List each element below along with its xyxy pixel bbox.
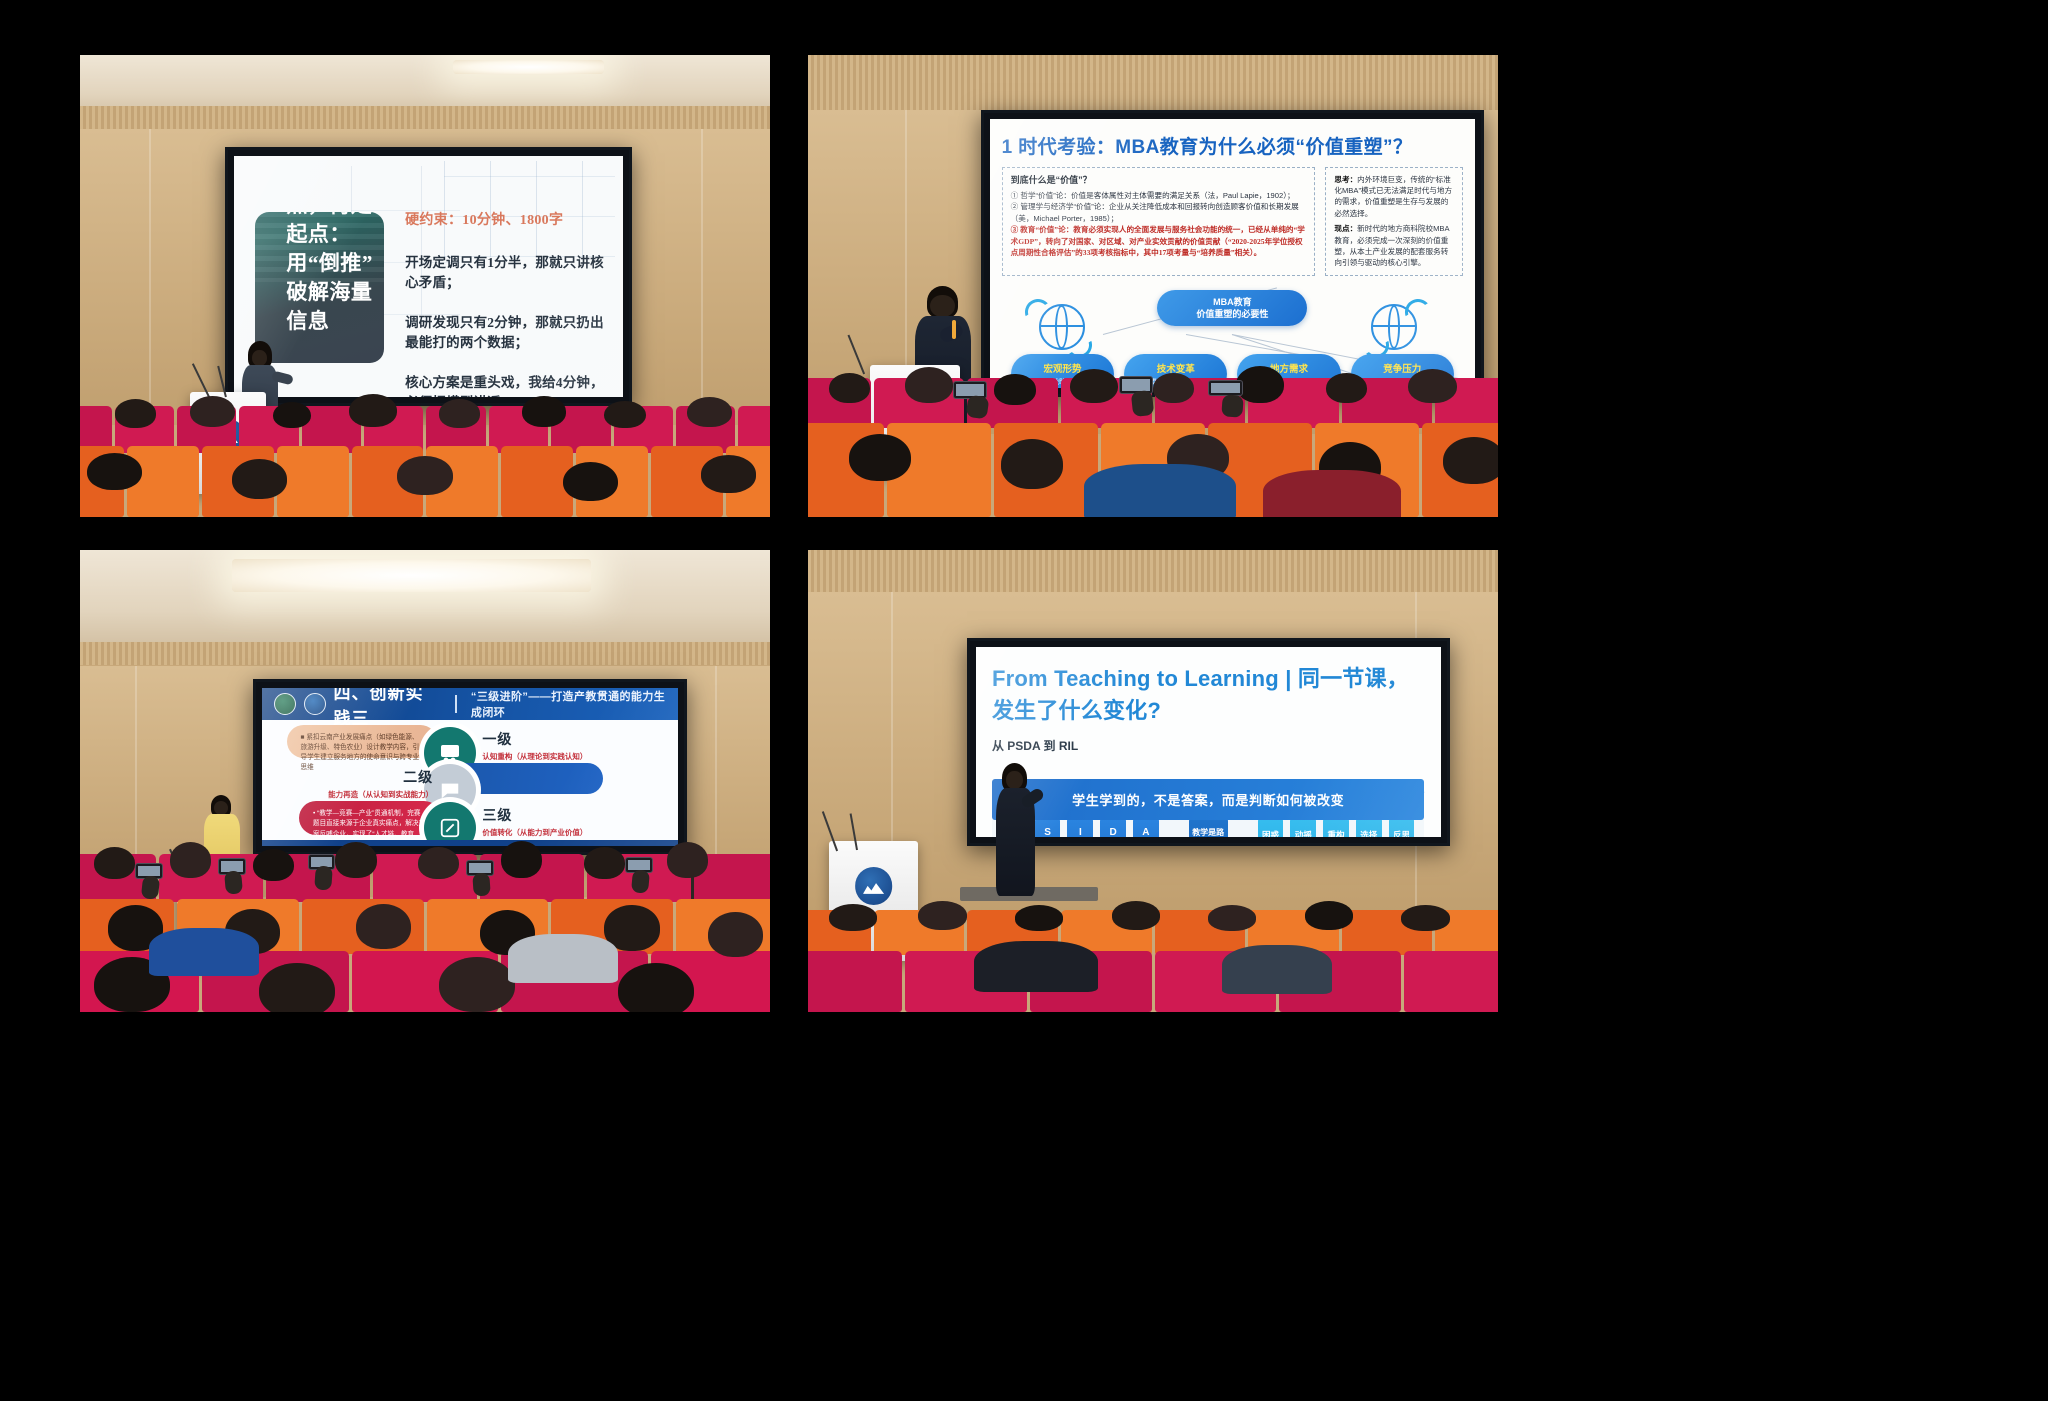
wall-slats-2 [808, 55, 1498, 110]
slide-2-diagram: MBA教育 价值重塑的必要性 宏观形势 国家战略的呼唤 技术变革 数字智能的浪潮 [1002, 288, 1463, 388]
psda-chip: A 行动 方案被执行 [1133, 819, 1159, 837]
speaker-head [1006, 771, 1023, 790]
audience-head [1401, 905, 1449, 930]
slide-surface-4: From Teaching to Learning | 同一节课，发生了什么变化… [976, 647, 1441, 837]
raised-arm [314, 866, 332, 891]
slide-2-columns: 到底什么是“价值”？ ① 哲学“价值”论：价值是客体属性对主体需要的满足关系（法… [1002, 167, 1463, 276]
audience-head [232, 459, 287, 499]
audience-3 [80, 850, 770, 1012]
level-desc: 认知重构（从理论到实践认知） [482, 751, 587, 762]
globe-icon [1039, 304, 1085, 350]
slide-3-header: 四、创新实践三 “三级进阶”——打造产教贯通的能力生成闭环 [262, 688, 679, 720]
projection-screen-3: 四、创新实践三 “三级进阶”——打造产教贯通的能力生成闭环 ■ 紧扣云南产业发展… [253, 679, 688, 855]
audience-head [115, 399, 156, 428]
slide-3-level-1-label: 一级 认知重构（从理论到实践认知） [482, 729, 587, 762]
auditorium-room-1: 先定终点，再走起点： 用“倒推” 破解海量信息 硬约束：10分钟、1800字 开… [80, 55, 770, 517]
slide-2-item: ② 管理学与经济学“价值”论：企业从关注降低成本和回报转向创造顾客价值和长期发展… [1011, 201, 1307, 224]
audience-head [439, 957, 515, 1012]
ril-chip: 动摇 原判断被质疑 [1290, 819, 1316, 837]
ceiling-light-icon [453, 60, 605, 75]
raised-arm [631, 869, 649, 893]
level-name: 一级 [482, 729, 587, 749]
audience-2 [808, 378, 1498, 517]
chip-key: I [1067, 827, 1093, 837]
university-emblem-icon [855, 867, 893, 905]
slide-surface-2: 1 时代考验：MBA教育为什么必须“价值重塑”？ 到底什么是“价值”？ ① 哲学… [990, 119, 1476, 387]
speaker-head [252, 350, 267, 366]
chip-key: D [1100, 827, 1126, 837]
ril-chip: 反思 理解为什么 [1389, 819, 1415, 837]
slide-2-left-box: 到底什么是“价值”？ ① 哲学“价值”论：价值是客体属性对主体需要的满足关系（法… [1002, 167, 1316, 276]
projection-screen-2: 1 时代考验：MBA教育为什么必须“价值重塑”？ 到底什么是“价值”？ ① 哲学… [981, 110, 1485, 396]
audience-head [1001, 439, 1063, 489]
chip-label: 动摇 [1290, 829, 1316, 837]
audience-head [94, 847, 135, 879]
slide-4-title: From Teaching to Learning | 同一节课，发生了什么变化… [992, 661, 1424, 725]
audience-head [687, 397, 732, 427]
slide-1-line: 核心方案是重头戏，我给4分钟，必须把模型讲透…… [405, 371, 607, 397]
audience-head [1070, 369, 1118, 404]
slide-1-line: 开场定调只有1分半，那就只讲核心矛盾； [405, 251, 607, 291]
audience-head [190, 396, 235, 427]
audience-head [170, 842, 211, 878]
audience-head [563, 462, 618, 502]
slide-2-now-label: 现点： [1334, 224, 1357, 233]
audience-head [1112, 901, 1160, 929]
audience-head [1408, 369, 1456, 404]
ril-chip: 重构 认知被改变 [1323, 819, 1349, 837]
audience-1 [80, 406, 770, 517]
panel-top-left-photo: 先定终点，再走起点： 用“倒推” 破解海量信息 硬约束：10分钟、1800字 开… [80, 55, 770, 517]
audience-body [1263, 470, 1401, 517]
audience-head [849, 434, 911, 481]
level-desc: 价值转化（从能力到产业价值） [482, 827, 587, 838]
slide-3-subtitle: “三级进阶”——打造产教贯通的能力生成闭环 [471, 688, 666, 720]
seal-icon [274, 693, 296, 715]
slide-surface-1: 先定终点，再走起点： 用“倒推” 破解海量信息 硬约束：10分钟、1800字 开… [234, 156, 623, 397]
photo-collage: 先定终点，再走起点： 用“倒推” 破解海量信息 硬约束：10分钟、1800字 开… [0, 0, 2048, 1401]
audience-head [501, 841, 542, 878]
speaker-head [930, 295, 954, 318]
raised-arm [1221, 394, 1243, 418]
audience-head [349, 394, 397, 427]
audience-4 [808, 910, 1498, 1012]
audience-head [522, 396, 567, 427]
psda-chip: D 决策 决策被形成 [1100, 819, 1126, 837]
audience-head [708, 912, 763, 957]
smartphone-icon [1208, 380, 1243, 397]
audience-head [335, 842, 376, 878]
audience-body [508, 934, 618, 983]
psda-chip: I 洞察 结论被推导 [1067, 819, 1093, 837]
audience-head [1153, 373, 1194, 403]
audience-head [1208, 905, 1256, 930]
slide-3-pill-level-3: • “教学—竞赛—产业”贯通机制，完赛题目直接来源于企业真实痛点，解决方案反哺企… [299, 801, 441, 835]
wall-slats-3 [80, 642, 770, 665]
level-name: 三级 [482, 805, 587, 825]
audience-head [618, 963, 694, 1012]
chip-label: 困惑 [1258, 829, 1284, 837]
slide-2: 1 时代考验：MBA教育为什么必须“价值重塑”？ 到底什么是“价值”？ ① 哲学… [990, 119, 1476, 387]
slide-2-right-box: 思考：内外环境巨变，传统的“标准化MBA”模式已无法满足时代与地方的需求，价值重… [1325, 167, 1463, 276]
audience-head [1015, 905, 1063, 930]
slide-surface-3: 四、创新实践三 “三级进阶”——打造产教贯通的能力生成闭环 ■ 紧扣云南产业发展… [262, 688, 679, 846]
ril-chip: 困惑 不确定 [1258, 819, 1284, 837]
slide-3-level-3-label: 三级 价值转化（从能力到产业价值） [482, 805, 587, 838]
audience-head [701, 455, 756, 493]
slide-3-pill-level-1: ■ 紧扣云南产业发展痛点（如绿色能源、旅游升级、特色农业）设计教学内容，引导学生… [287, 725, 437, 759]
audience-head [273, 402, 311, 429]
audience-body [149, 928, 259, 977]
audience-head [829, 373, 870, 403]
raised-arm [224, 871, 242, 895]
audience-body [974, 941, 1098, 992]
slide-2-now: 现点：新时代的地方商科院校MBA教育，必须完成一次深刻的价值重塑，从本土产业发展… [1334, 223, 1454, 269]
slide-4-banner: 学生学到的，不是答案，而是判断如何被改变 [992, 779, 1424, 820]
raised-arm [141, 875, 160, 899]
audience-head [1236, 366, 1284, 403]
auditorium-room-3: 四、创新实践三 “三级进阶”——打造产教贯通的能力生成闭环 ■ 紧扣云南产业发展… [80, 550, 770, 1012]
auditorium-room-2: 1 时代考验：MBA教育为什么必须“价值重塑”？ 到底什么是“价值”？ ① 哲学… [808, 55, 1498, 517]
panel-top-right-photo: 1 时代考验：MBA教育为什么必须“价值重塑”？ 到底什么是“价值”？ ① 哲学… [808, 55, 1498, 517]
audience-head [584, 847, 625, 879]
slide-1: 先定终点，再走起点： 用“倒推” 破解海量信息 硬约束：10分钟、1800字 开… [234, 156, 623, 397]
slide-2-item: ① 哲学“价值”论：价值是客体属性对主体需要的满足关系（法，Paul Lapie… [1011, 190, 1307, 201]
slide-1-card-title: 先定终点，再走起点： 用“倒推” 破解海量信息 [286, 212, 383, 336]
audience-head [356, 904, 411, 949]
audience-head [1326, 373, 1367, 403]
middle-line-1: 教学是路径 [1189, 827, 1228, 837]
chip-key: A [1133, 827, 1159, 837]
auditorium-room-4: From Teaching to Learning | 同一节课，发生了什么变化… [808, 550, 1498, 1012]
audience-head [439, 399, 480, 428]
audience-head [418, 847, 459, 879]
slide-2-think-label: 思考： [1334, 175, 1357, 184]
chip-label: 选择 [1356, 829, 1382, 837]
slide-2-diagram-root: MBA教育 价值重塑的必要性 [1157, 290, 1307, 326]
wall-seam [149, 129, 151, 425]
level-name: 二级 [328, 767, 433, 787]
slide-4: From Teaching to Learning | 同一节课，发生了什么变化… [976, 647, 1441, 837]
handheld-microphone-icon [952, 320, 957, 339]
audience-head [918, 901, 966, 929]
ril-chip: 选择 形成判断 [1356, 819, 1382, 837]
chip-label: 重构 [1323, 829, 1349, 837]
slide-4-subtitle: 从 PSDA 到 RIL [992, 737, 1424, 754]
panel-bottom-left-photo: 四、创新实践三 “三级进阶”——打造产教贯通的能力生成闭环 ■ 紧扣云南产业发展… [80, 550, 770, 1012]
speaker-4 [987, 763, 1042, 897]
audience-head [397, 456, 452, 495]
seat-row [808, 951, 1498, 1012]
slide-3-body: ■ 紧扣云南产业发展痛点（如绿色能源、旅游升级、特色农业）设计教学内容，引导学生… [262, 720, 679, 840]
slide-1-highlight: 硬约束：10分钟、1800字 [405, 209, 607, 229]
audience-head [253, 849, 294, 881]
university-emblem-icon [304, 693, 326, 715]
chip-label: 反思 [1389, 829, 1415, 837]
slide-4-middle-chip: 教学是路径 学习是变化 [1189, 819, 1228, 837]
wall-slats-4 [808, 550, 1498, 592]
slide-2-title: 1 时代考验：MBA教育为什么必须“价值重塑”？ [1002, 132, 1463, 159]
audience-head [667, 842, 708, 878]
ceiling-light-icon [232, 559, 591, 591]
slide-1-body: 硬约束：10分钟、1800字 开场定调只有1分半，那就只讲核心矛盾； 调研发现只… [405, 209, 607, 397]
slide-4-chip-row: P 问题 问题被提定 S 分析 数据被引入 I [1002, 819, 1414, 837]
raised-arm [1131, 390, 1154, 417]
audience-head [829, 904, 877, 930]
slide-3-level-2-label: 二级 能力再造（从认知到实战能力） [328, 767, 433, 800]
slide-3-footer-bar [262, 840, 679, 846]
audience-head [994, 374, 1035, 404]
audience-body [1084, 464, 1236, 517]
audience-head [87, 453, 142, 491]
audience-head [604, 401, 645, 429]
audience-body [1222, 945, 1332, 994]
level-desc: 能力再造（从认知到实战能力） [328, 789, 433, 800]
slide-2-think: 思考：内外环境巨变，传统的“标准化MBA”模式已无法满足时代与地方的需求，价值重… [1334, 174, 1454, 220]
slide-3: 四、创新实践三 “三级进阶”——打造产教贯通的能力生成闭环 ■ 紧扣云南产业发展… [262, 688, 679, 846]
raised-arm [473, 872, 491, 896]
panel-bottom-right-photo: From Teaching to Learning | 同一节课，发生了什么变化… [808, 550, 1498, 1012]
slide-2-item: ③ 教育“价值”论：教育必须实现人的全面发展与服务社会功能的统一，已经从单纯的“… [1011, 224, 1307, 258]
slide-1-line: 调研发现只有2分钟，那就只扔出最能打的两个数据； [405, 311, 607, 351]
audience-head [1305, 901, 1353, 929]
wall-slats-1 [80, 106, 770, 129]
slide-2-question: 到底什么是“价值”？ [1011, 174, 1307, 188]
audience-head [259, 963, 335, 1012]
audience-head [1443, 437, 1498, 484]
divider [455, 695, 457, 713]
wall-seam [701, 129, 703, 425]
audience-head [905, 367, 953, 403]
